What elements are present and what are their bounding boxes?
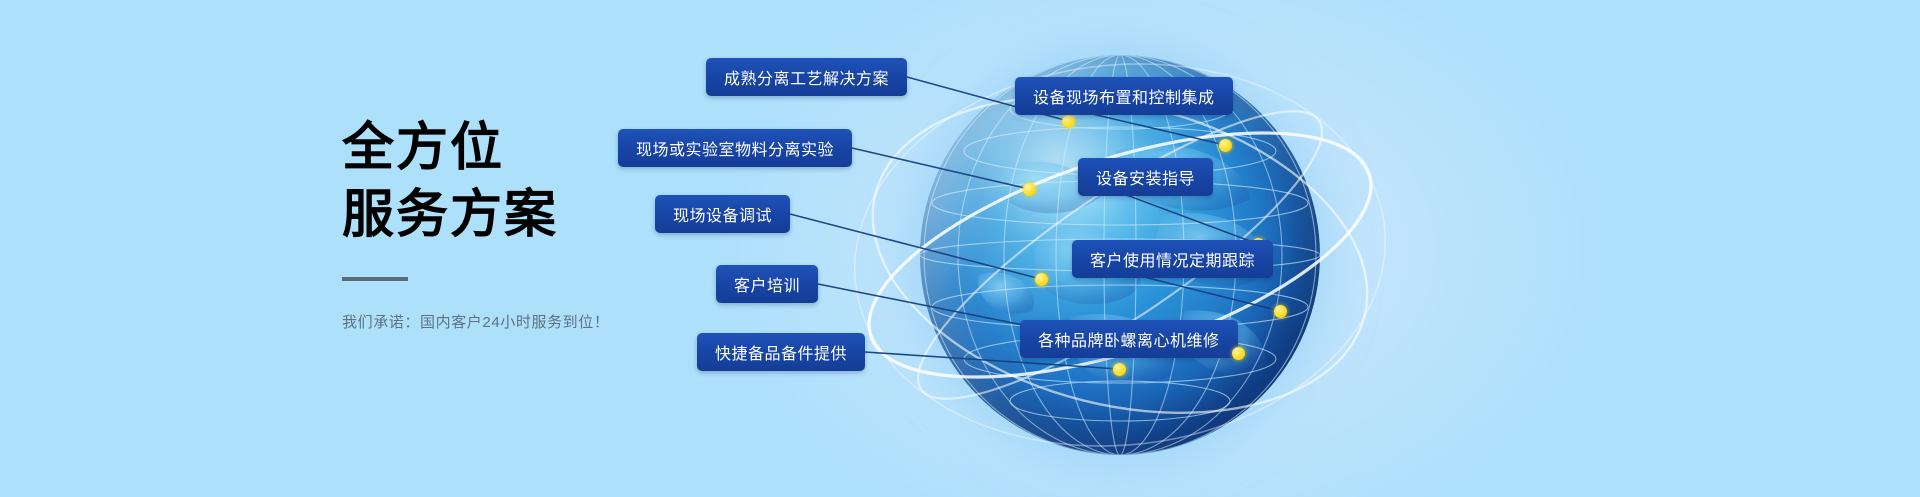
badge-centrifuge-brand-maintenance[interactable]: 各种品牌卧螺离心机维修 (1020, 320, 1238, 358)
badge-periodic-customer-usage-tracking[interactable]: 客户使用情况定期跟踪 (1072, 240, 1273, 278)
badge-customer-training[interactable]: 客户培训 (716, 265, 818, 303)
node-dot-mature-separation-process (1062, 115, 1075, 128)
service-banner: 全方位 服务方案 我们承诺：国内客户24小时服务到位！ (0, 0, 1920, 497)
node-dot-equipment-layout-and-control-integration (1219, 139, 1232, 152)
badge-mature-separation-process[interactable]: 成熟分离工艺解决方案 (706, 58, 907, 96)
node-dot-onsite-equipment-commissioning (1035, 273, 1048, 286)
badge-fast-spare-parts-supply[interactable]: 快捷备品备件提供 (697, 333, 865, 371)
title-divider (342, 277, 408, 281)
badge-equipment-installation-guidance[interactable]: 设备安装指导 (1078, 158, 1213, 196)
badge-equipment-layout-and-control-integration[interactable]: 设备现场布置和控制集成 (1015, 77, 1233, 115)
node-dot-onsite-or-lab-material-separation-test (1023, 183, 1036, 196)
badge-onsite-or-lab-material-separation-test[interactable]: 现场或实验室物料分离实验 (618, 129, 852, 167)
node-dot-centrifuge-brand-maintenance (1232, 347, 1245, 360)
badge-onsite-equipment-commissioning[interactable]: 现场设备调试 (655, 195, 790, 233)
service-promise-text: 我们承诺：国内客户24小时服务到位！ (342, 311, 762, 332)
node-dot-fast-spare-parts-supply (1113, 363, 1126, 376)
node-dot-periodic-customer-usage-tracking (1274, 305, 1287, 318)
